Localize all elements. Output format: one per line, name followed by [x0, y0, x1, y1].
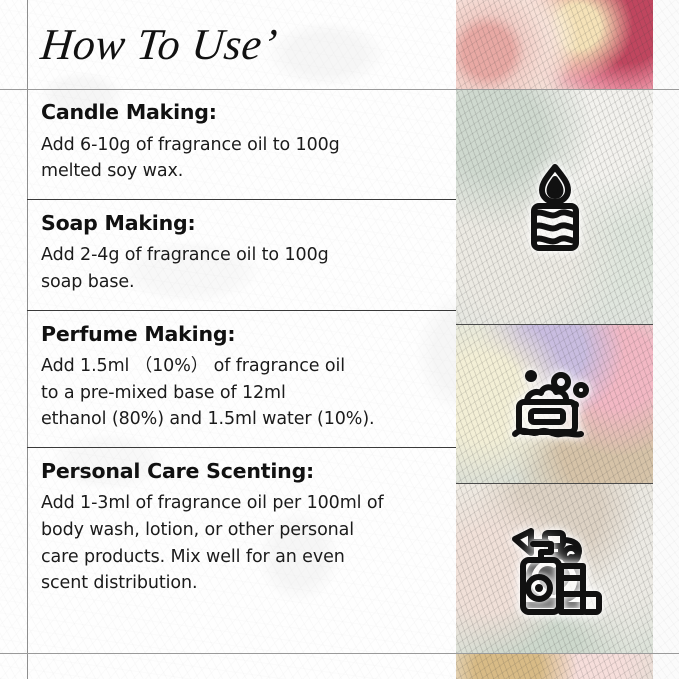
section-heading: Personal Care Scenting:	[41, 460, 446, 484]
title-band: How To Use’	[27, 0, 456, 89]
section-heading: Perfume Making:	[41, 323, 446, 347]
right-edge-watermark-strip	[653, 0, 679, 679]
section-personal-care-scenting: Personal Care Scenting: Add 1-3ml of fra…	[27, 447, 456, 611]
hero-floral-photo	[456, 0, 653, 89]
section-body: Add 1-3ml of fragrance oil per 100ml of …	[41, 490, 446, 596]
section-perfume-making: Perfume Making: Add 1.5ml （10%） of fragr…	[27, 310, 456, 447]
top-horizontal-rule	[0, 89, 679, 90]
photo-divider	[456, 483, 653, 484]
photo-divider	[456, 324, 653, 325]
section-heading: Soap Making:	[41, 212, 446, 236]
bottom-floral-photo	[456, 654, 653, 679]
instruction-sections: Candle Making: Add 6-10g of fragrance oi…	[27, 89, 456, 611]
soap-bar-bubbles-icon	[507, 356, 603, 452]
bottom-horizontal-rule	[0, 653, 679, 654]
section-body: Add 6-10g of fragrance oil to 100g melte…	[41, 132, 446, 185]
perfume-bottle-heart-icon	[507, 521, 603, 617]
text-column: How To Use’ Candle Making: Add 6-10g of …	[0, 0, 456, 679]
photo-column	[456, 0, 653, 679]
page-title: How To Use’	[24, 19, 280, 70]
candle-icon	[507, 159, 603, 255]
section-body: Add 2-4g of fragrance oil to 100g soap b…	[41, 242, 446, 295]
soap-photo-cell	[456, 325, 653, 483]
candle-photo-cell	[456, 90, 653, 324]
section-heading: Candle Making:	[41, 101, 446, 125]
section-candle-making: Candle Making: Add 6-10g of fragrance oi…	[27, 89, 456, 199]
section-body: Add 1.5ml （10%） of fragrance oil to a pr…	[41, 353, 446, 433]
section-soap-making: Soap Making: Add 2-4g of fragrance oil t…	[27, 199, 456, 310]
how-to-use-infographic: How To Use’ Candle Making: Add 6-10g of …	[0, 0, 679, 679]
perfume-photo-cell	[456, 484, 653, 653]
